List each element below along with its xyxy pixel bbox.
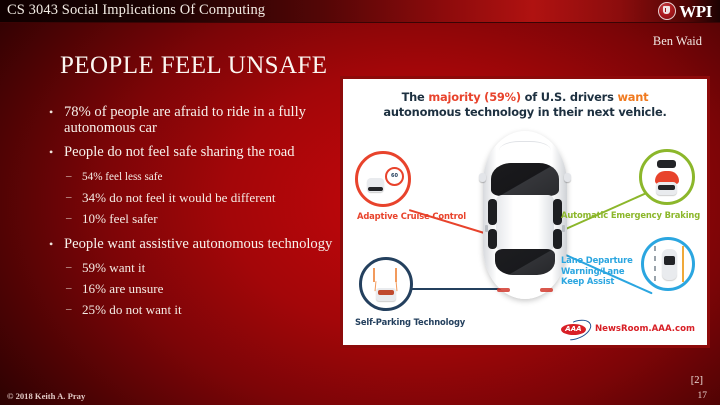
sub-bullet-marker: –	[66, 169, 72, 183]
citation-reference: [2]	[691, 375, 703, 386]
slide-page-number: 17	[698, 391, 708, 401]
sub-bullet-text: 16% are unsure	[82, 281, 163, 296]
headline-line2: autonomous technology in their next vehi…	[383, 105, 666, 119]
label-automatic-emergency-braking: Automatic Emergency Braking	[561, 210, 700, 221]
car-taillight-right	[540, 288, 553, 292]
slide-canvas: CS 3043 Social Implications Of Computing…	[0, 0, 720, 405]
lane-departure-warning-icon	[641, 237, 695, 291]
infographic-canvas: The majority (59%) of U.S. drivers want …	[343, 79, 707, 345]
aaa-newsroom-url: NewsRoom.AAA.com	[595, 324, 695, 334]
sub-bullet-item: – 54% feel less safe	[46, 170, 342, 184]
adaptive-cruise-control-icon: 60	[355, 151, 411, 207]
headline-part2: of U.S. drivers	[521, 90, 618, 104]
sub-bullet-marker: –	[66, 211, 72, 225]
car-windshield	[491, 163, 559, 196]
car-window-front-left	[488, 199, 497, 225]
wpi-logo-text: WPI	[679, 3, 712, 20]
car-taillight-left	[497, 288, 510, 292]
car-rear-glass	[495, 249, 555, 275]
car-window-rear-right	[553, 229, 562, 249]
page-title: PEOPLE FEEL UNSAFE	[60, 52, 327, 80]
label-self-parking-technology: Self-Parking Technology	[355, 317, 465, 328]
sub-bullet-text: 34% do not feel it would be different	[82, 190, 276, 205]
sub-bullet-marker: –	[66, 260, 72, 274]
aaa-logo-text: AAA	[561, 324, 586, 335]
label-lane-departure-warning: Lane Departure Warning/Lane Keep Assist	[561, 255, 633, 287]
bullet-item: • People do not feel safe sharing the ro…	[46, 145, 342, 161]
sub-bullet-item: – 10% feel safer	[46, 212, 342, 226]
sub-bullet-text: 54% feel less safe	[82, 171, 162, 183]
aaa-oval: AAA	[561, 324, 586, 335]
sub-bullet-marker: –	[66, 302, 72, 316]
sensor-beam-left	[373, 268, 375, 282]
headline-highlight-want: want	[617, 90, 648, 104]
car-door-handle-left	[485, 225, 488, 232]
sub-bullet-marker: –	[66, 190, 72, 204]
bullet-text: People want assistive autonomous technol…	[64, 236, 332, 252]
sub-bullet-item: – 16% are unsure	[46, 282, 342, 296]
car-top-view-illustration	[483, 131, 567, 299]
aaa-infographic-image: The majority (59%) of U.S. drivers want …	[340, 76, 710, 348]
mini-car-shadow	[368, 187, 383, 191]
sub-bullet-text: 25% do not want it	[82, 302, 182, 317]
bullet-list: • 78% of people are afraid to ride in a …	[46, 105, 342, 324]
bullet-text: People do not feel safe sharing the road	[64, 144, 295, 160]
automatic-emergency-braking-icon	[639, 149, 695, 205]
bullet-item: • People want assistive autonomous techn…	[46, 237, 342, 253]
sub-bullet-item: – 25% do not want it	[46, 303, 342, 317]
speed-limit-sign-icon: 60	[385, 167, 404, 186]
self-parking-technology-icon	[359, 257, 413, 311]
car-mirror-left	[479, 173, 486, 182]
sub-bullet-item: – 59% want it	[46, 261, 342, 275]
infographic-headline: The majority (59%) of U.S. drivers want …	[343, 90, 707, 120]
sub-bullet-text: 59% want it	[82, 260, 145, 275]
headline-highlight-majority: majority (59%)	[428, 90, 521, 104]
sub-bullet-item: – 34% do not feel it would be different	[46, 191, 342, 205]
headline-part1: The	[402, 90, 429, 104]
sub-bullet-text: 10% feel safer	[82, 211, 158, 226]
bullet-item: • 78% of people are afraid to ride in a …	[46, 105, 342, 136]
bullet-marker: •	[49, 105, 53, 121]
sensor-beam-right	[395, 268, 397, 282]
wpi-seal-icon	[658, 2, 676, 20]
sub-bullet-marker: –	[66, 281, 72, 295]
bullet-marker: •	[49, 237, 53, 253]
label-adaptive-cruise-control: Adaptive Cruise Control	[357, 211, 466, 222]
aaa-logo-icon: AAA	[560, 321, 590, 337]
presenter-name: Ben Waid	[653, 34, 702, 49]
mini-car-roof	[658, 185, 675, 190]
wpi-logo: WPI	[658, 1, 712, 21]
lane-marking-left	[654, 246, 656, 282]
course-title: CS 3043 Social Implications Of Computing	[7, 2, 265, 19]
car-window-rear-left	[488, 229, 497, 249]
mini-car-roof	[664, 256, 675, 265]
copyright-notice: © 2018 Keith A. Pray	[7, 391, 85, 401]
header-bar: CS 3043 Social Implications Of Computing…	[0, 0, 720, 23]
lead-vehicle	[657, 160, 676, 168]
car-hood-line	[499, 141, 551, 160]
bullet-marker: •	[49, 145, 53, 161]
bullet-text: 78% of people are afraid to ride in a fu…	[64, 104, 306, 136]
aaa-source-attribution: AAA NewsRoom.AAA.com	[560, 321, 695, 337]
car-roof	[496, 195, 554, 251]
car-mirror-right	[564, 173, 571, 182]
car-door-handle-right	[562, 225, 565, 232]
lane-marking-right	[682, 246, 684, 282]
mini-car-rear	[378, 290, 394, 295]
